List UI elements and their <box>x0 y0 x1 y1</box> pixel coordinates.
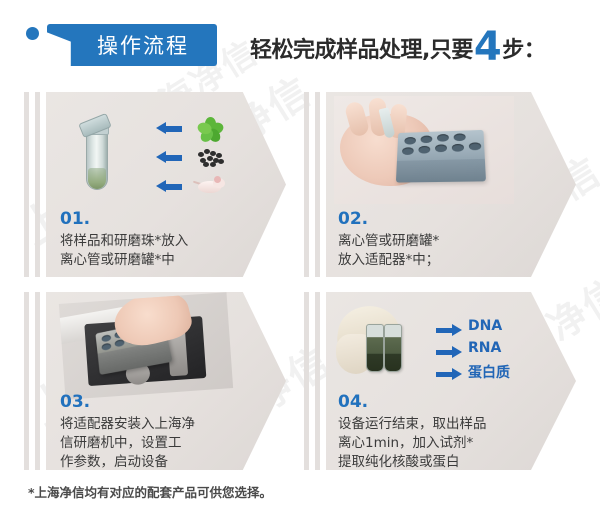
badge-label: 操作流程 <box>47 24 217 66</box>
adapter-block-icon <box>396 130 486 183</box>
adapter-hole <box>452 144 464 152</box>
arrow-right-icon <box>436 324 462 336</box>
arrow-left-icon <box>156 180 182 193</box>
step-03-illustration <box>59 292 233 399</box>
arrow-left-icon <box>156 122 182 135</box>
step-01-illustration <box>58 104 248 200</box>
adapter-hole <box>437 134 449 142</box>
accent-bar <box>35 292 40 470</box>
step-04-line-1: 设备运行结束，取出样品 <box>338 415 487 434</box>
accent-bar <box>304 292 309 470</box>
step-02-line-1: 离心管或研磨罐* <box>338 232 439 251</box>
step-03-line-1: 将适配器安装入上海净 <box>60 415 195 434</box>
adapter-hole <box>101 343 111 351</box>
adapter-hole <box>454 133 466 141</box>
step-card-01: 01. 将样品和研磨珠*放入 离心管或研磨罐*中 <box>24 92 286 277</box>
step-04-illustration <box>334 304 444 386</box>
adapter-hole <box>402 147 414 155</box>
step-02-description: 离心管或研磨罐* 放入适配器*中； <box>338 232 439 270</box>
sample-tube-icon <box>384 324 402 372</box>
step-04-line-2: 离心1min，加入试剂* <box>338 434 487 453</box>
step-card-03: 03. 将适配器安装入上海净 信研磨机中，设置工 作参数，启动设备 <box>24 292 286 470</box>
page-title-suffix: 步： <box>502 32 545 64</box>
tube-liquid <box>88 168 106 189</box>
page-header: 操作流程 轻松完成样品处理,只要 4 步： <box>0 0 600 86</box>
mouse-ear <box>214 176 221 183</box>
card-accent-bars <box>24 92 46 277</box>
step-04-description: 设备运行结束，取出样品 离心1min，加入试剂* 提取纯化核酸或蛋白 <box>338 415 487 472</box>
step-02-line-2: 放入适配器*中； <box>338 251 439 270</box>
accent-bar <box>24 292 29 470</box>
page-title-prefix: 轻松完成样品处理,只要 <box>250 32 473 64</box>
adapter-hole <box>469 142 482 150</box>
page-title-number: 4 <box>474 31 501 63</box>
step-04-line-3: 提取纯化核酸或蛋白 <box>338 453 487 472</box>
step-03-line-2: 信研磨机中，设置工 <box>60 434 195 453</box>
output-label-rna: RNA <box>468 340 501 356</box>
step-card-02: 02. 离心管或研磨罐* 放入适配器*中； <box>304 92 576 277</box>
leaf-icon <box>198 115 224 141</box>
header-dot-icon <box>26 27 39 40</box>
step-04-number: 04. <box>338 392 368 412</box>
page-title: 轻松完成样品处理,只要 4 步： <box>250 28 545 64</box>
adapter-hole <box>435 144 447 152</box>
accent-bar <box>315 292 320 470</box>
step-02-illustration <box>334 96 514 204</box>
adapter-block-top <box>397 130 485 161</box>
seeds-icon <box>197 147 225 169</box>
arrow-right-icon <box>436 368 462 380</box>
output-label-dna: DNA <box>468 318 502 334</box>
accent-bar <box>35 92 40 277</box>
step-03-description: 将适配器安装入上海净 信研磨机中，设置工 作参数，启动设备 <box>60 415 195 472</box>
accent-bar <box>315 92 320 277</box>
step-01-description: 将样品和研磨珠*放入 离心管或研磨罐*中 <box>60 232 188 270</box>
adapter-hole <box>418 146 430 154</box>
step-card-04: DNA RNA 蛋白质 04. 设备运行结束，取出样品 离心1min，加入试剂*… <box>304 292 576 470</box>
card-accent-bars <box>304 92 326 277</box>
step-01-line-1: 将样品和研磨珠*放入 <box>60 232 188 251</box>
adapter-hole <box>421 135 433 143</box>
adapter-hole <box>101 334 111 342</box>
arrow-right-icon <box>436 346 462 358</box>
output-label-protein: 蛋白质 <box>468 362 510 382</box>
step-01-number: 01. <box>60 209 90 229</box>
step-03-line-3: 作参数，启动设备 <box>60 453 195 472</box>
card-accent-bars <box>304 292 326 470</box>
centrifuge-tube-icon <box>80 118 114 192</box>
sample-tube-icon <box>366 324 384 372</box>
footnote: *上海净信均有对应的配套产品可供您选择。 <box>28 482 272 501</box>
card-accent-bars <box>24 292 46 470</box>
mouse-icon <box>196 176 226 196</box>
arrow-left-icon <box>156 151 182 164</box>
accent-bar <box>24 92 29 277</box>
adapter-hole <box>404 137 416 145</box>
step-03-number: 03. <box>60 392 90 412</box>
step-01-line-2: 离心管或研磨罐*中 <box>60 251 188 270</box>
step-02-number: 02. <box>338 209 368 229</box>
section-badge: 操作流程 <box>47 24 217 66</box>
accent-bar <box>304 92 309 277</box>
